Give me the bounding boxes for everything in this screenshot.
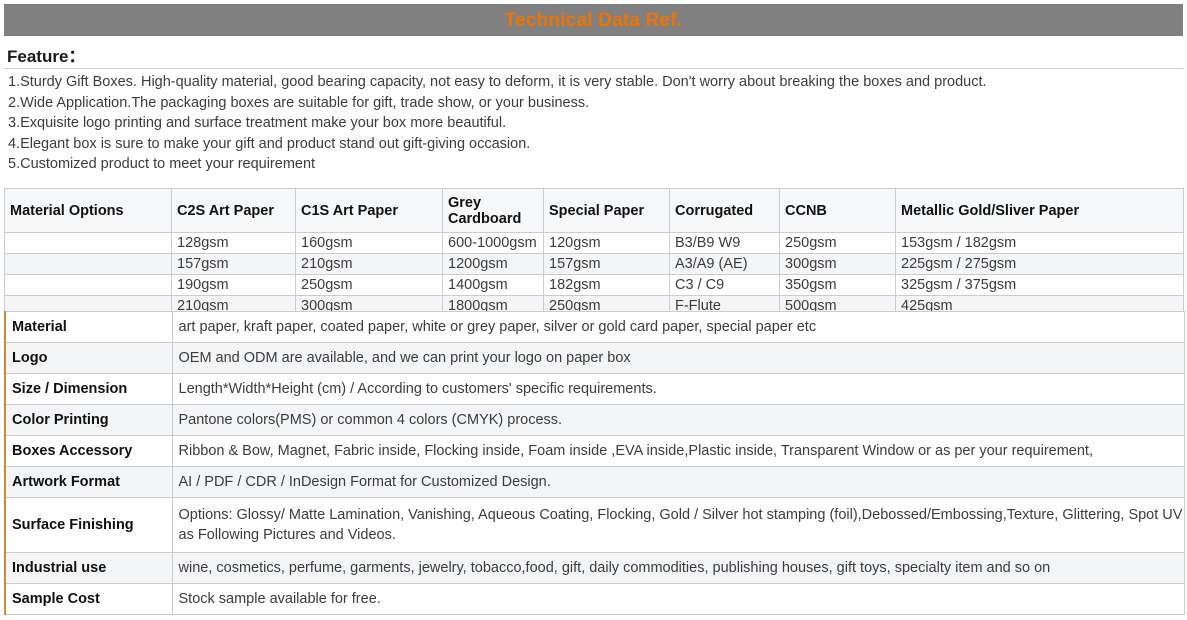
spec-value-line: art paper, kraft paper, coated paper, wh… <box>179 317 1178 337</box>
spec-row-size-dimension: Size / Dimension Length*Width*Height (cm… <box>5 374 1184 405</box>
cell: B3/B9 W9 <box>670 233 780 254</box>
cell: A3/A9 (AE) <box>670 254 780 275</box>
cell: 128gsm <box>172 233 296 254</box>
spec-key: Surface Finishing <box>5 498 172 553</box>
spec-value-line: wine, cosmetics, perfume, garments, jewe… <box>179 558 1178 578</box>
cell <box>5 275 172 296</box>
spec-row-surface-finishing: Surface Finishing Options: Glossy/ Matte… <box>5 498 1184 553</box>
cell: 1400gsm <box>443 275 544 296</box>
spec-key: Size / Dimension <box>5 374 172 405</box>
column-header-material-options: Material Options <box>5 189 172 233</box>
column-header-grey-cardboard: Grey Cardboard <box>443 189 544 233</box>
feature-item: 1.Sturdy Gift Boxes. High-quality materi… <box>4 72 1183 93</box>
spec-value: Length*Width*Height (cm) / According to … <box>172 374 1184 405</box>
feature-item: 5.Customized product to meet your requir… <box>4 154 1183 175</box>
table-row: 157gsm 210gsm 1200gsm 157gsm A3/A9 (AE) … <box>5 254 1184 275</box>
title-bar: Technical Data Ref. <box>4 4 1183 36</box>
cell <box>5 254 172 275</box>
cell <box>5 233 172 254</box>
spec-value-line: Pantone colors(PMS) or common 4 colors (… <box>179 410 1178 430</box>
column-header-corrugated: Corrugated <box>670 189 780 233</box>
spec-value: Pantone colors(PMS) or common 4 colors (… <box>172 405 1184 436</box>
feature-item: 4.Elegant box is sure to make your gift … <box>4 134 1183 155</box>
spec-row-logo: Logo OEM and ODM are available, and we c… <box>5 343 1184 374</box>
spec-key: Material <box>5 312 172 343</box>
cell: 182gsm <box>544 275 670 296</box>
spec-value-line: Stock sample available for free. <box>179 589 1178 609</box>
cell: 210gsm <box>296 254 443 275</box>
spec-value: art paper, kraft paper, coated paper, wh… <box>172 312 1184 343</box>
spec-row-artwork-format: Artwork Format AI / PDF / CDR / InDesign… <box>5 467 1184 498</box>
cell: 250gsm <box>296 275 443 296</box>
spec-value: wine, cosmetics, perfume, garments, jewe… <box>172 553 1184 584</box>
spec-key: Sample Cost <box>5 584 172 615</box>
spec-value-line: Ribbon & Bow, Magnet, Fabric inside, Flo… <box>179 441 1178 461</box>
cell: 225gsm / 275gsm <box>896 254 1184 275</box>
cell: 250gsm <box>780 233 896 254</box>
spec-row-boxes-accessory: Boxes Accessory Ribbon & Bow, Magnet, Fa… <box>5 436 1184 467</box>
spec-value: Ribbon & Bow, Magnet, Fabric inside, Flo… <box>172 436 1184 467</box>
cell: 600-1000gsm <box>443 233 544 254</box>
spec-row-color-printing: Color Printing Pantone colors(PMS) or co… <box>5 405 1184 436</box>
column-header-ccnb: CCNB <box>780 189 896 233</box>
cell: 120gsm <box>544 233 670 254</box>
page-title: Technical Data Ref. <box>505 11 683 30</box>
material-options-table: Material Options C2S Art Paper C1S Art P… <box>4 188 1184 317</box>
spec-row-industrial-use: Industrial use wine, cosmetics, perfume,… <box>5 553 1184 584</box>
spec-key: Color Printing <box>5 405 172 436</box>
feature-list: 1.Sturdy Gift Boxes. High-quality materi… <box>4 72 1183 175</box>
spec-row-sample-cost: Sample Cost Stock sample available for f… <box>5 584 1184 615</box>
spec-value-line: Length*Width*Height (cm) / According to … <box>179 379 1178 399</box>
column-header-metallic-paper: Metallic Gold/Sliver Paper <box>896 189 1184 233</box>
column-header-c1s-art-paper: C1S Art Paper <box>296 189 443 233</box>
spec-value-line: Options: Glossy/ Matte Lamination, Vanis… <box>179 505 1178 525</box>
specification-table: Material art paper, kraft paper, coated … <box>4 311 1185 615</box>
feature-heading-label: Feature： <box>4 42 85 67</box>
spec-value-line: as Following Pictures and Videos. <box>179 525 1178 545</box>
column-header-special-paper: Special Paper <box>544 189 670 233</box>
spec-value: AI / PDF / CDR / InDesign Format for Cus… <box>172 467 1184 498</box>
spec-key: Boxes Accessory <box>5 436 172 467</box>
spec-value-line: OEM and ODM are available, and we can pr… <box>179 348 1178 368</box>
cell: 350gsm <box>780 275 896 296</box>
column-header-c2s-art-paper: C2S Art Paper <box>172 189 296 233</box>
cell: C3 / C9 <box>670 275 780 296</box>
cell: 190gsm <box>172 275 296 296</box>
spec-value: Options: Glossy/ Matte Lamination, Vanis… <box>172 498 1184 553</box>
technical-data-sheet: Technical Data Ref. Feature： 1.Sturdy Gi… <box>0 0 1187 620</box>
feature-item: 3.Exquisite logo printing and surface tr… <box>4 113 1183 134</box>
cell: 153gsm / 182gsm <box>896 233 1184 254</box>
cell: 1200gsm <box>443 254 544 275</box>
spec-value: Stock sample available for free. <box>172 584 1184 615</box>
table-row: 128gsm 160gsm 600-1000gsm 120gsm B3/B9 W… <box>5 233 1184 254</box>
table-header-row: Material Options C2S Art Paper C1S Art P… <box>5 189 1184 233</box>
spec-key: Industrial use <box>5 553 172 584</box>
spec-key: Artwork Format <box>5 467 172 498</box>
spec-value: OEM and ODM are available, and we can pr… <box>172 343 1184 374</box>
cell: 300gsm <box>780 254 896 275</box>
feature-item: 2.Wide Application.The packaging boxes a… <box>4 93 1183 114</box>
cell: 157gsm <box>172 254 296 275</box>
cell: 160gsm <box>296 233 443 254</box>
table-row: 190gsm 250gsm 1400gsm 182gsm C3 / C9 350… <box>5 275 1184 296</box>
spec-value-line: AI / PDF / CDR / InDesign Format for Cus… <box>179 472 1178 492</box>
spec-key: Logo <box>5 343 172 374</box>
spec-row-material: Material art paper, kraft paper, coated … <box>5 312 1184 343</box>
feature-heading: Feature： <box>4 41 1183 69</box>
cell: 325gsm / 375gsm <box>896 275 1184 296</box>
cell: 157gsm <box>544 254 670 275</box>
